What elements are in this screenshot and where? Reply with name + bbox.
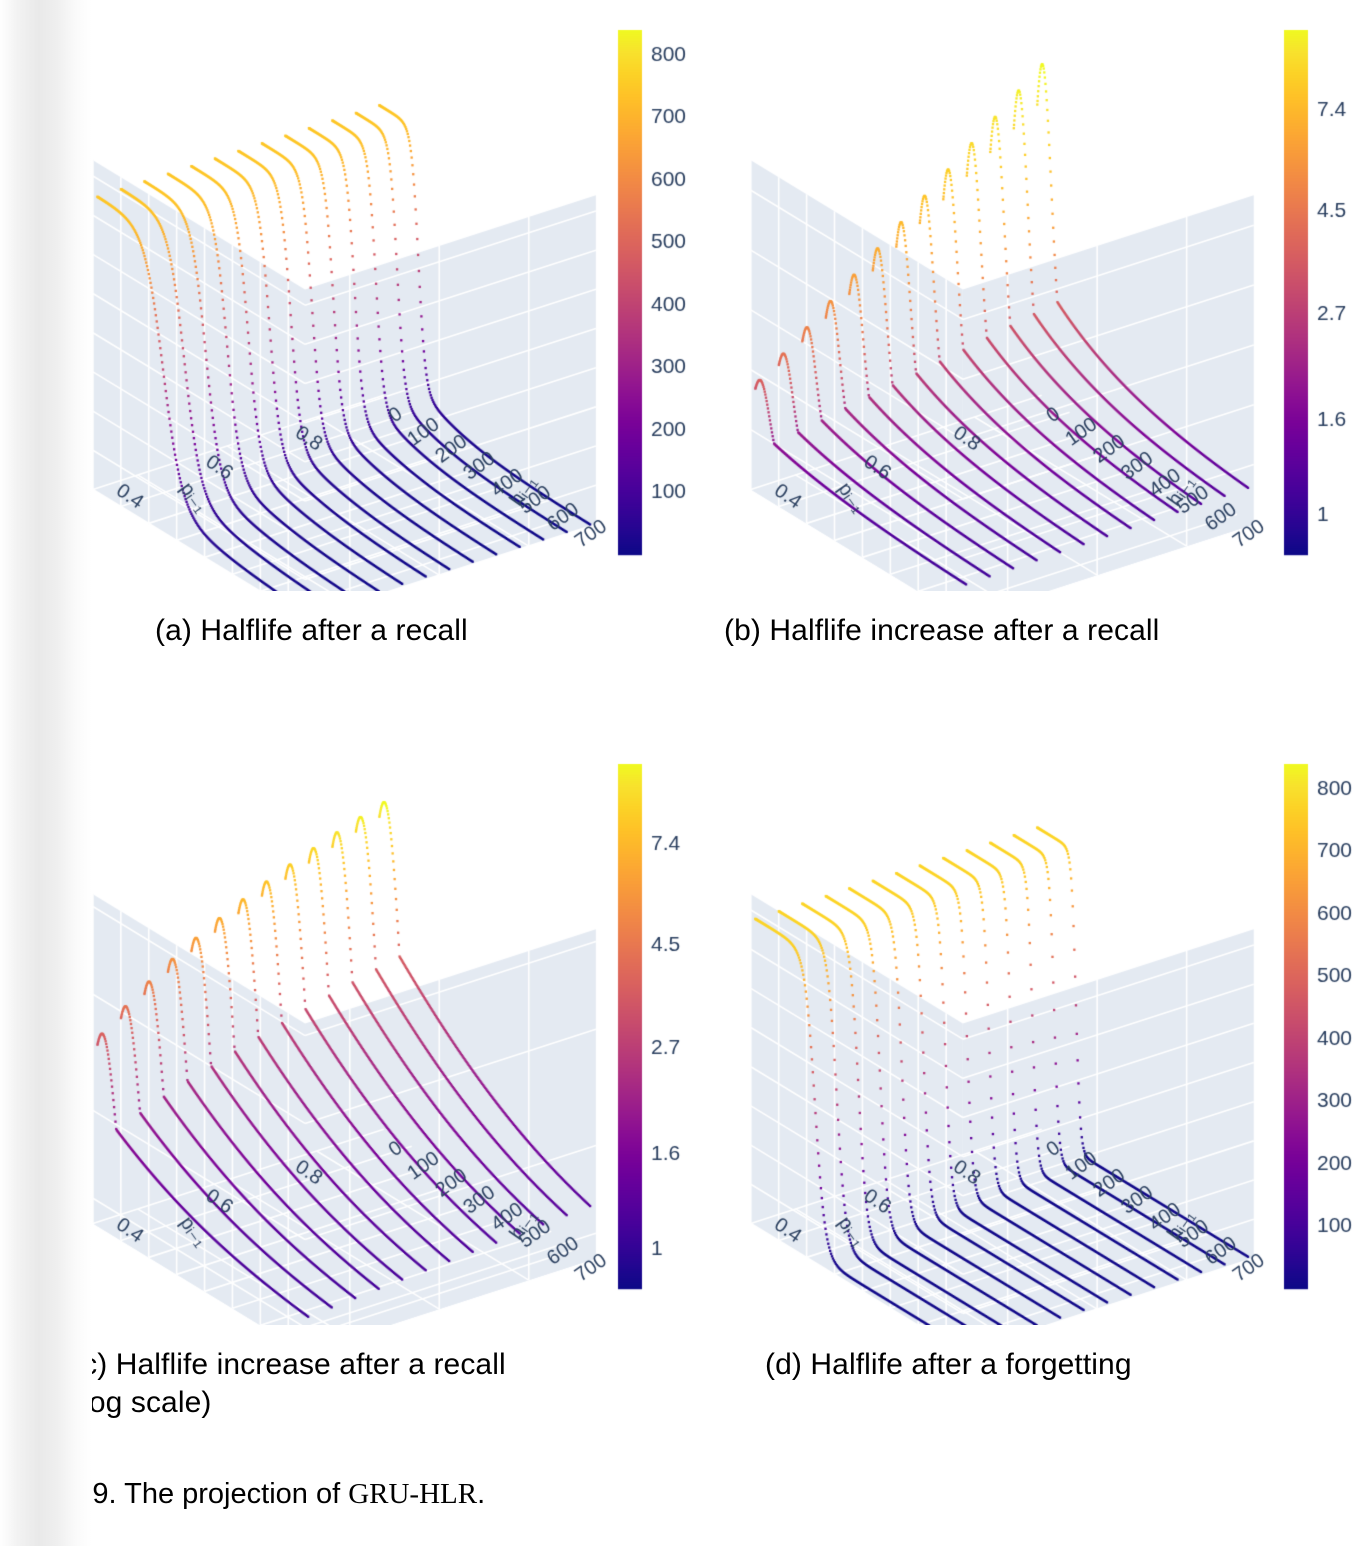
figure-caption-suffix: . [477,1478,485,1510]
panel-d-caption: (d) Halflife after a forgetting [765,1346,1365,1384]
figure-caption-prefix: Fig. 9. The projection of [36,1478,348,1510]
panel-d [736,740,1370,1325]
panel-c-caption: (c) Halflife increase after a recall (lo… [72,1346,682,1423]
panel-a-caption: (a) Halflife after a recall [155,612,655,650]
plot-b-canvas[interactable] [736,6,1370,591]
panel-c [84,740,704,1325]
figure-container: (a) Halflife after a recall (b) Halflife… [0,0,1370,1546]
figure-caption: Fig. 9. The projection of GRU-HLR. [36,1478,485,1511]
plot-c-canvas[interactable] [84,740,704,1325]
panel-b-caption: (b) Halflife increase after a recall [724,612,1364,650]
panel-b [736,6,1370,591]
plot-a-canvas[interactable] [84,6,704,591]
figure-caption-emph: GRU-HLR [348,1478,477,1510]
plot-d-canvas[interactable] [736,740,1370,1325]
panel-a [84,6,704,591]
